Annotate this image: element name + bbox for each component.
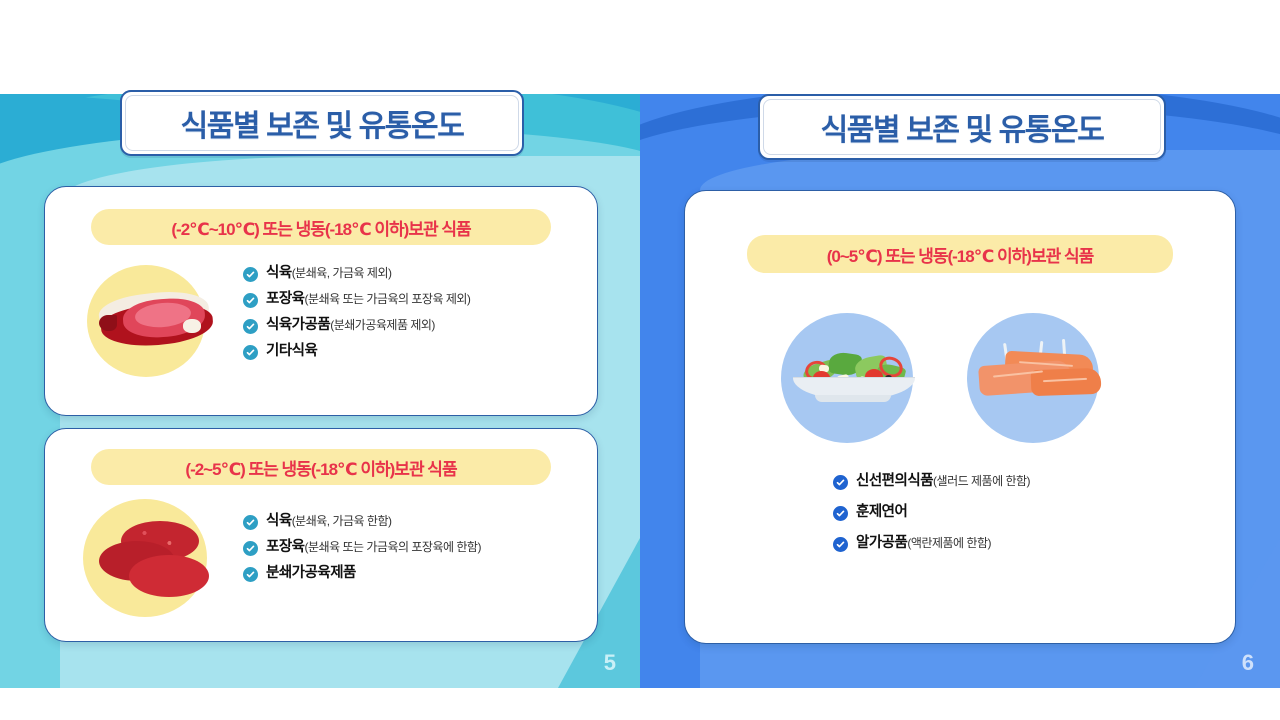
list-item-text: 식육가공품(분쇄가공육제품 제외)	[266, 317, 435, 333]
list-item-text: 알가공품(액란제품에 한함)	[856, 535, 991, 551]
patties-shape	[99, 521, 217, 599]
slide-6-card-1: (0~5℃) 또는 냉동(-18℃ 이하)보관 식품	[684, 190, 1236, 644]
list-item: 분쇄가공육제품	[243, 565, 583, 582]
list-item-term: 훈제연어	[856, 504, 907, 520]
slide-page-6: 청렴한 세상 식품의약품안전처 국민 안심이 기준입니다 YOUR SAFETY…	[640, 0, 1280, 720]
page-title: 식품별 보존 및 유통온도	[181, 101, 464, 145]
list-item: 훈제연어	[833, 504, 1213, 521]
list-item-term: 기타식육	[266, 343, 317, 359]
list-item: 신선편의식품(샐러드 제품에 한함)	[833, 473, 1213, 490]
list-item-text: 분쇄가공육제품	[266, 565, 356, 581]
slide-5-card-1-list: 식육(분쇄육, 가금육 제외) 포장육(분쇄육 또는 가금육의 포장육 제외) …	[243, 265, 573, 369]
check-circle-icon	[243, 319, 258, 334]
list-item-note: (분쇄육, 가금육 한함)	[292, 514, 392, 528]
slide-5-card-2: (-2~5℃) 또는 냉동(-18℃ 이하)보관 식품 식육(분쇄육, 가금육 …	[44, 428, 598, 642]
temperature-banner-1: (-2℃~10℃) 또는 냉동(-18℃ 이하)보관 식품	[91, 209, 551, 245]
salad-shape	[793, 343, 915, 405]
ground-meat-patties-icon	[83, 495, 223, 621]
slide-page-5: 식품의약품안전처 식품별 보존 및 유통온도 (-2℃~10℃) 또는 냉동(-…	[0, 0, 640, 720]
list-item-text: 포장육(분쇄육 또는 가금육의 포장육에 한함)	[266, 539, 481, 555]
list-item-note: (분쇄육 또는 가금육의 포장육에 한함)	[305, 540, 481, 554]
list-item-term: 분쇄가공육제품	[266, 565, 356, 581]
list-item-text: 식육(분쇄육, 가금육 한함)	[266, 513, 392, 529]
beef-cut-shape	[99, 289, 217, 351]
list-item-term: 식육가공품	[266, 317, 330, 333]
check-circle-icon	[243, 541, 258, 556]
list-item-text: 식육(분쇄육, 가금육 제외)	[266, 265, 392, 281]
temperature-banner-1-label: (0~5℃) 또는 냉동(-18℃ 이하)보관 식품	[827, 242, 1094, 267]
check-circle-icon	[243, 515, 258, 530]
check-circle-icon	[243, 567, 258, 582]
list-item-note: (샐러드 제품에 한함)	[933, 474, 1030, 488]
check-circle-icon	[243, 293, 258, 308]
temperature-banner-1-label: (-2℃~10℃) 또는 냉동(-18℃ 이하)보관 식품	[171, 215, 470, 240]
slide-5-header-band	[0, 32, 640, 94]
list-item-note: (분쇄육, 가금육 제외)	[292, 266, 392, 280]
slide-5-page-number: 5	[604, 650, 616, 676]
slide-6-canvas: 청렴한 세상 식품의약품안전처 국민 안심이 기준입니다 YOUR SAFETY…	[640, 32, 1280, 688]
list-item-term: 식육	[266, 265, 292, 281]
list-item-term: 알가공품	[856, 535, 907, 551]
check-circle-icon	[833, 506, 848, 521]
smoked-salmon-icon	[967, 313, 1113, 445]
list-item-term: 포장육	[266, 291, 305, 307]
slide-5-card-1: (-2℃~10℃) 또는 냉동(-18℃ 이하)보관 식품 식육(분쇄육, 가금…	[44, 186, 598, 416]
check-circle-icon	[833, 537, 848, 552]
list-item: 알가공품(액란제품에 한함)	[833, 535, 1213, 552]
raw-beef-cut-icon	[87, 259, 217, 381]
list-item-term: 포장육	[266, 539, 305, 555]
check-circle-icon	[833, 475, 848, 490]
list-item: 포장육(분쇄육 또는 가금육의 포장육에 한함)	[243, 539, 583, 556]
check-circle-icon	[243, 345, 258, 360]
list-item: 식육가공품(분쇄가공육제품 제외)	[243, 317, 573, 334]
list-item-note: (액란제품에 한함)	[907, 536, 991, 550]
temperature-banner-1: (0~5℃) 또는 냉동(-18℃ 이하)보관 식품	[747, 235, 1173, 273]
slide-6-card-1-list: 신선편의식품(샐러드 제품에 한함) 훈제연어 알가공품(액란제품에 한함)	[833, 473, 1213, 561]
slide-6-title-plate: 식품별 보존 및 유통온도	[758, 94, 1166, 160]
list-item-text: 신선편의식품(샐러드 제품에 한함)	[856, 473, 1030, 489]
slide-pair-stage: 식품의약품안전처 식품별 보존 및 유통온도 (-2℃~10℃) 또는 냉동(-…	[0, 0, 1280, 720]
temperature-banner-2-label: (-2~5℃) 또는 냉동(-18℃ 이하)보관 식품	[185, 455, 456, 480]
salad-plate-icon	[781, 313, 923, 445]
page-title: 식품별 보존 및 유통온도	[821, 105, 1104, 149]
list-item-term: 식육	[266, 513, 292, 529]
slide-5-canvas: 식품의약품안전처 식품별 보존 및 유통온도 (-2℃~10℃) 또는 냉동(-…	[0, 32, 640, 688]
list-item-note: (분쇄육 또는 가금육의 포장육 제외)	[305, 292, 471, 306]
slide-5-title-plate: 식품별 보존 및 유통온도	[120, 90, 524, 156]
slide-5-card-2-list: 식육(분쇄육, 가금육 한함) 포장육(분쇄육 또는 가금육의 포장육에 한함)…	[243, 513, 583, 591]
list-item: 포장육(분쇄육 또는 가금육의 포장육 제외)	[243, 291, 573, 308]
check-circle-icon	[243, 267, 258, 282]
list-item-note: (분쇄가공육제품 제외)	[330, 318, 435, 332]
list-item: 식육(분쇄육, 가금육 제외)	[243, 265, 573, 282]
list-item-text: 훈제연어	[856, 504, 907, 520]
salmon-shape	[977, 343, 1105, 409]
list-item: 기타식육	[243, 343, 573, 360]
list-item: 식육(분쇄육, 가금육 한함)	[243, 513, 583, 530]
list-item-text: 기타식육	[266, 343, 317, 359]
slide-6-header-band	[640, 32, 1280, 94]
slide-6-page-number: 6	[1242, 650, 1254, 676]
list-item-text: 포장육(분쇄육 또는 가금육의 포장육 제외)	[266, 291, 470, 307]
temperature-banner-2: (-2~5℃) 또는 냉동(-18℃ 이하)보관 식품	[91, 449, 551, 485]
list-item-term: 신선편의식품	[856, 473, 933, 489]
